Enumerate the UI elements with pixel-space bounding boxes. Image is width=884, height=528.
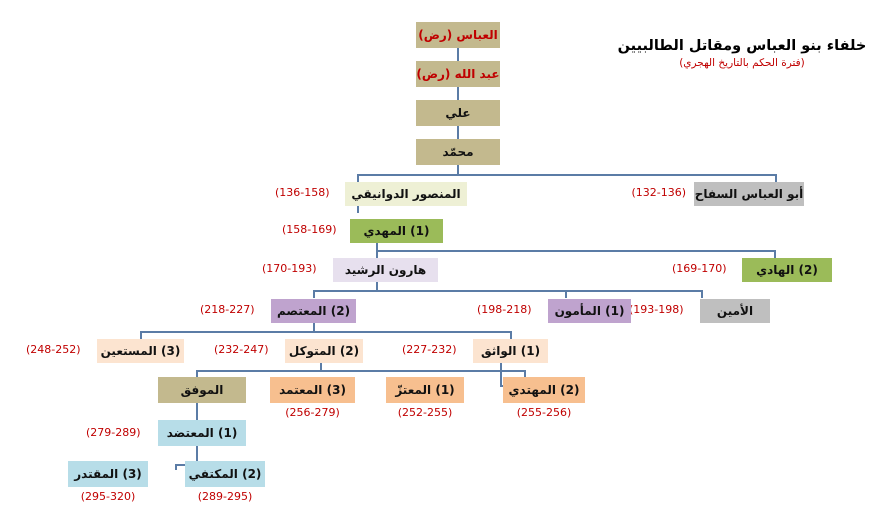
connector-bar3-mid-drop: [565, 290, 567, 298]
connector-bar2-right-drop: [774, 250, 776, 258]
node-label: (3) المقتدر: [74, 468, 142, 480]
node-label: (2) الهادي: [756, 264, 818, 276]
node-mutazz[interactable]: (1) المعتزّ: [386, 377, 464, 403]
date-saffah: (132-136): [516, 187, 686, 198]
node-rashid[interactable]: هارون الرشيد: [333, 258, 438, 282]
connector-bar3-left-drop: [313, 290, 315, 298]
node-label: محمّد: [442, 146, 473, 158]
node-mahdi[interactable]: (1) المهدي: [350, 219, 443, 243]
node-hadi[interactable]: (2) الهادي: [742, 258, 832, 282]
chart-title-block: خلفاء بنو العباس ومقاتل الطالبيين (فترة …: [600, 38, 884, 69]
node-label: (3) المستعين: [101, 345, 181, 357]
date-mutadid: (279-289): [86, 427, 150, 438]
date-mutazz: (252-255): [386, 407, 464, 418]
date-mansur: (136-158): [275, 187, 337, 198]
connector-ali-muhammad: [457, 126, 459, 139]
connector-muqtadir-drop: [175, 464, 177, 470]
chart-subtitle: (فترة الحكم بالتاريخ الهجري): [600, 57, 884, 69]
connector-bar2-left-drop: [376, 250, 378, 258]
node-label: الموفق: [181, 384, 224, 396]
family-tree-canvas: خلفاء بنو العباس ومقاتل الطالبيين (فترة …: [0, 0, 884, 528]
date-mamun: (198-218): [477, 304, 540, 315]
node-label: أبو العباس السفاح: [695, 188, 803, 200]
node-label: (1) المأمون: [555, 305, 625, 317]
node-label: (2) المعتصم: [277, 305, 350, 317]
date-rashid: (170-193): [262, 263, 325, 274]
node-amin[interactable]: الأمين: [700, 299, 770, 323]
connector-abdullah-ali: [457, 87, 459, 100]
node-abbas[interactable]: العباس (رض): [416, 22, 500, 48]
node-muhtadi[interactable]: (2) المهتدي: [503, 377, 585, 403]
node-mamun[interactable]: (1) المأمون: [548, 299, 631, 323]
connector-muwaffaq-mutadid: [196, 403, 198, 420]
node-label: العباس (رض): [418, 29, 498, 41]
date-mutawakkil: (232-247): [214, 344, 277, 355]
node-mutadid[interactable]: (1) المعتضد: [158, 420, 246, 446]
connector-generation-bar-5: [196, 370, 526, 372]
connector-bar1-left-drop: [357, 174, 359, 182]
date-hadi: (169-170): [672, 263, 734, 274]
node-label: المنصور الدوانيقي: [351, 188, 460, 200]
node-label: (3) المعتمد: [279, 384, 346, 396]
date-mutasim: (218-227): [200, 304, 263, 315]
connector-bar3-right-drop: [701, 290, 703, 298]
node-muktafi[interactable]: (2) المكتفي: [185, 461, 265, 487]
connector-bar4-right-drop: [510, 331, 512, 339]
node-label: (2) المكتفي: [189, 468, 262, 480]
node-mustain[interactable]: (3) المستعين: [97, 339, 184, 363]
node-saffah[interactable]: أبو العباس السفاح: [694, 182, 804, 206]
date-mahdi: (158-169): [282, 224, 342, 235]
node-label: الأمين: [717, 305, 753, 317]
node-label: (1) المهدي: [363, 225, 429, 237]
node-mansur[interactable]: المنصور الدوانيقي: [345, 182, 467, 206]
date-muhtadi: (255-256): [503, 407, 585, 418]
node-muqtadir[interactable]: (3) المقتدر: [68, 461, 148, 487]
connector-wathiq-stem: [500, 363, 502, 387]
node-label: (1) المعتزّ: [395, 384, 454, 396]
node-label: علي: [445, 107, 470, 119]
node-label: (2) المهتدي: [509, 384, 580, 396]
date-mutamid: (256-279): [270, 407, 355, 418]
date-amin: (193-198): [629, 304, 692, 315]
chart-title: خلفاء بنو العباس ومقاتل الطالبيين: [600, 38, 884, 54]
connector-bar1-right-drop: [775, 174, 777, 182]
node-muwaffaq[interactable]: الموفق: [158, 377, 246, 403]
node-label: (2) المتوكل: [289, 345, 359, 357]
node-abdullah[interactable]: عبد الله (رض): [416, 61, 500, 87]
connector-generation-bar-3: [313, 290, 703, 292]
connector-generation-bar-4: [140, 331, 512, 333]
connector-abbas-abdullah: [457, 48, 459, 61]
date-mustain: (248-252): [26, 344, 89, 355]
date-muqtadir: (295-320): [68, 491, 148, 502]
connector-generation-bar-2: [376, 250, 776, 252]
node-mutamid[interactable]: (3) المعتمد: [270, 377, 355, 403]
node-muhammad[interactable]: محمّد: [416, 139, 500, 165]
date-wathiq: (227-232): [402, 344, 465, 355]
node-label: عبد الله (رض): [416, 68, 499, 80]
connector-generation-bar-1: [357, 174, 777, 176]
connector-bar4-left-drop: [140, 331, 142, 339]
node-mutawakkil[interactable]: (2) المتوكل: [285, 339, 363, 363]
node-wathiq[interactable]: (1) الواثق: [473, 339, 548, 363]
node-mutasim[interactable]: (2) المعتصم: [271, 299, 356, 323]
node-ali[interactable]: علي: [416, 100, 500, 126]
node-label: هارون الرشيد: [345, 264, 426, 276]
date-muktafi: (289-295): [185, 491, 265, 502]
node-label: (1) المعتضد: [167, 427, 238, 439]
node-label: (1) الواثق: [481, 345, 540, 357]
